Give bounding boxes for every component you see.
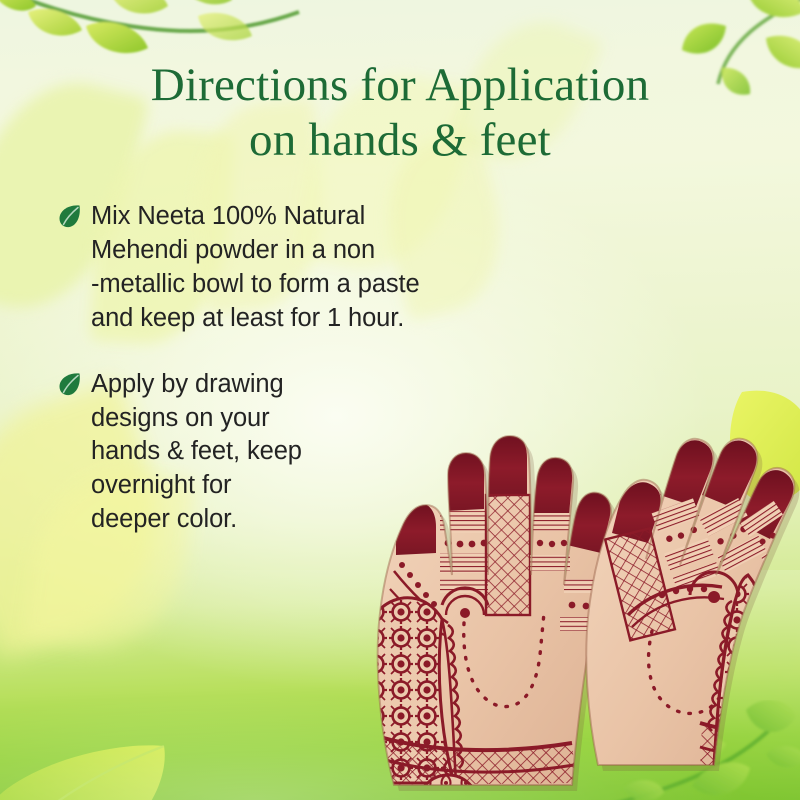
list-item-text: Apply by drawing designs on your hands &… [91,368,302,538]
leaf-icon [57,203,83,229]
poster-canvas: Directions for Application on hands & fe… [0,0,800,800]
leaf-bottom-left-icon [0,740,168,800]
page-title: Directions for Application on hands & fe… [0,58,800,168]
leaf-icon [57,371,83,397]
list-item: Apply by drawing designs on your hands &… [57,368,527,538]
instructions-list: Mix Neeta 100% Natural Mehendi powder in… [57,200,527,537]
list-item: Mix Neeta 100% Natural Mehendi powder in… [57,200,527,336]
list-item-text: Mix Neeta 100% Natural Mehendi powder in… [91,200,420,336]
